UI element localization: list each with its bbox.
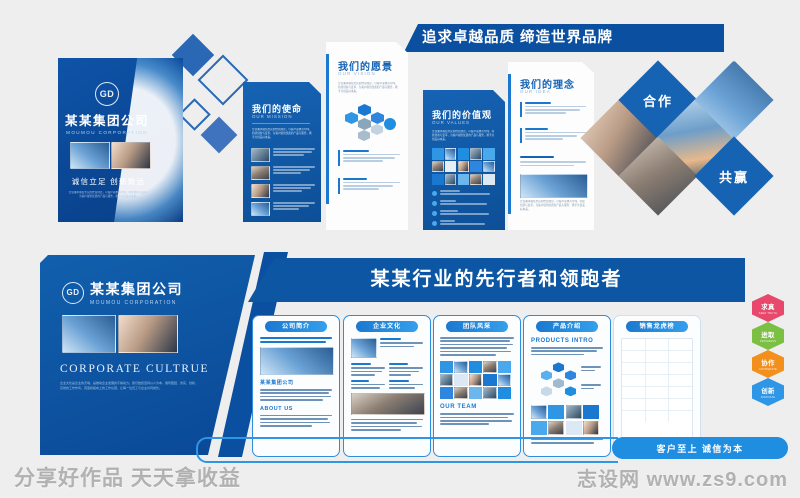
- bottom-card-products-title: 产品介绍: [536, 321, 598, 332]
- culture-panel: GD 某某集团公司 MOUMOU CORPORATION CORPORATE C…: [40, 255, 255, 455]
- card-our-mission-list: [251, 148, 315, 216]
- card-our-values: 我们的价值观 OUR VALUES 企业秉承诚信务实的经营理念，以客户需求为导向…: [423, 90, 505, 230]
- badge-cooperate: 协作 COOPERATE: [752, 350, 784, 378]
- brand-slogan: 诚信立足 创新致远: [58, 176, 159, 187]
- product-photo-grid: [531, 405, 603, 434]
- badge-backing-panel: [740, 300, 754, 420]
- card-our-idea-item-2: [520, 128, 586, 143]
- values-icon-grid: [432, 148, 496, 185]
- bottom-card-team-subtitle: OUR TEAM: [440, 404, 514, 410]
- brand-name-cn: 某某集团公司: [58, 110, 156, 129]
- badge-progress-label: 进取: [761, 330, 775, 339]
- top-banner-text: 追求卓越品质 缔造世界品牌: [404, 24, 724, 52]
- bottom-card-sales: 销售龙虎榜: [613, 315, 701, 457]
- culture-heading: CORPORATE CULTRUE: [60, 363, 209, 375]
- watermark-right: 志设网 www.zs9.com: [577, 463, 788, 492]
- culture-logo-mark: GD: [62, 282, 84, 304]
- bottom-card-culture-title: 企业文化: [356, 321, 418, 332]
- culture-brand-en: MOUMOU CORPORATION: [90, 300, 183, 306]
- bottom-card-about-brand: 某某集团公司: [260, 379, 332, 386]
- bottom-card-products-subtitle: PRODUCTS INTRO: [531, 338, 603, 344]
- ribbon-track: [196, 437, 618, 463]
- bottom-card-about: 公司简介 某某集团公司 ABOUT US: [252, 315, 340, 457]
- card-our-idea-item-1: [520, 102, 586, 117]
- culture-brand-row: GD 某某集团公司 MOUMOU CORPORATION: [62, 279, 183, 306]
- values-list: [432, 190, 496, 226]
- bottom-card-about-subtitle: ABOUT US: [260, 406, 332, 412]
- card-our-idea-body: 企业秉承诚信务实的经营理念，以客户需求为导向，持续创新与变革，为客户提供优质的产…: [520, 200, 586, 222]
- diamond-mosaic: 合作 共赢: [590, 52, 800, 232]
- badge-progress-sub: PROGRESS: [760, 340, 776, 343]
- brand-body-text: 企业秉承诚信务实的经营理念，以客户需求为导向，持续创新与变革，为客户提供优质的产…: [68, 191, 150, 213]
- card-our-idea: 我们的理念 OUR IDEA: [508, 62, 594, 230]
- brand-name-en: MOUMOU CORPORATION: [58, 130, 156, 135]
- bottom-ribbon: 客户至上 诚信为本: [612, 437, 788, 459]
- card-our-values-body: 企业秉承诚信务实的经营理念，以客户需求为导向，持续创新与变革，为客户提供优质的产…: [432, 130, 496, 144]
- card-our-idea-subtitle: OUR IDEA: [520, 89, 551, 94]
- badge-seek-truth-sub: SEEK TRUTH: [759, 312, 777, 315]
- card-our-vision: 我们的愿景 OUR VISION 企业秉承诚信务实的经营理念，以客户需求为导向，…: [326, 42, 408, 230]
- poster-canvas: GD 某某集团公司 MOUMOU CORPORATION 诚信立足 创新致远 企…: [0, 0, 800, 498]
- diamond-decor-3: [178, 98, 211, 131]
- card-our-mission: 我们的使命 OUR MISSION 企业秉承诚信务实的经营理念，以客户需求为导向…: [243, 82, 321, 222]
- card-our-vision-item-1: [338, 150, 400, 166]
- badge-seek-truth-label: 求真: [761, 302, 775, 311]
- team-photo-grid: [440, 361, 514, 400]
- bottom-card-culture: 企业文化: [343, 315, 431, 457]
- bottom-card-about-title: 公司简介: [265, 321, 327, 332]
- bottom-card-team-title: 团队风采: [446, 321, 508, 332]
- accent-bar: [326, 54, 329, 204]
- card-our-vision-item-2: [338, 178, 400, 194]
- top-brand-panel: GD 某某集团公司 MOUMOU CORPORATION 诚信立足 创新致远 企…: [58, 58, 183, 222]
- card-our-mission-subtitle: OUR MISSION: [252, 114, 293, 119]
- badge-cooperate-sub: COOPERATE: [759, 368, 777, 371]
- mid-band-text: 某某行业的先行者和领跑者: [248, 258, 745, 302]
- card-our-idea-heading: [520, 156, 586, 166]
- culture-body: 企业文化是企业的灵魂，是推动企业发展的不竭动力。我们始终坚持以人为本，倡导团结、…: [60, 381, 200, 417]
- mid-band: 某某行业的先行者和领跑者: [248, 258, 745, 302]
- bottom-card-products: 产品介绍 PRODUCTS INTRO: [523, 315, 611, 457]
- badge-cooperate-label: 协作: [761, 358, 775, 367]
- bottom-card-sales-title: 销售龙虎榜: [626, 321, 688, 332]
- hex-cluster-graphic: [340, 104, 398, 140]
- culture-photo-handshake: [118, 315, 178, 353]
- culture-photo-building: [62, 315, 116, 353]
- badge-innovate: 创新 INNOVATE: [752, 378, 784, 406]
- diamond-decor-4: [201, 117, 238, 154]
- bottom-card-team: 团队风采 OUR TEAM: [433, 315, 521, 457]
- card-our-vision-subtitle: OUR VISION: [338, 71, 376, 76]
- culture-brand-cn: 某某集团公司: [90, 279, 183, 299]
- card-our-mission-body: 企业秉承诚信务实的经营理念，以客户需求为导向，持续创新与变革，为客户提供优质的产…: [252, 128, 312, 144]
- watermark-left: 分享好作品 天天拿收益: [14, 462, 241, 492]
- card-our-vision-body: 企业秉承诚信务实的经营理念，以客户需求为导向，持续创新与变革，为客户提供优质的产…: [338, 82, 398, 99]
- photo-solar: [520, 174, 588, 198]
- divider: [252, 123, 310, 124]
- mosaic-word-winwin: 共赢: [706, 148, 762, 204]
- badge-progress: 进取 PROGRESS: [752, 322, 784, 350]
- badge-seek-truth: 求真 SEEK TRUTH: [752, 294, 784, 322]
- photo-handshake: [111, 142, 151, 169]
- badge-innovate-label: 创新: [761, 386, 775, 395]
- photo-building: [70, 142, 110, 169]
- accent-bar: [508, 74, 511, 214]
- badge-innovate-sub: INNOVATE: [761, 396, 775, 399]
- card-our-values-subtitle: OUR VALUES: [432, 120, 470, 125]
- bottom-ribbon-text: 客户至上 诚信为本: [656, 442, 743, 455]
- top-banner: 追求卓越品质 缔造世界品牌: [404, 24, 724, 52]
- product-diagram: [531, 360, 603, 400]
- logo-mark: GD: [95, 82, 119, 106]
